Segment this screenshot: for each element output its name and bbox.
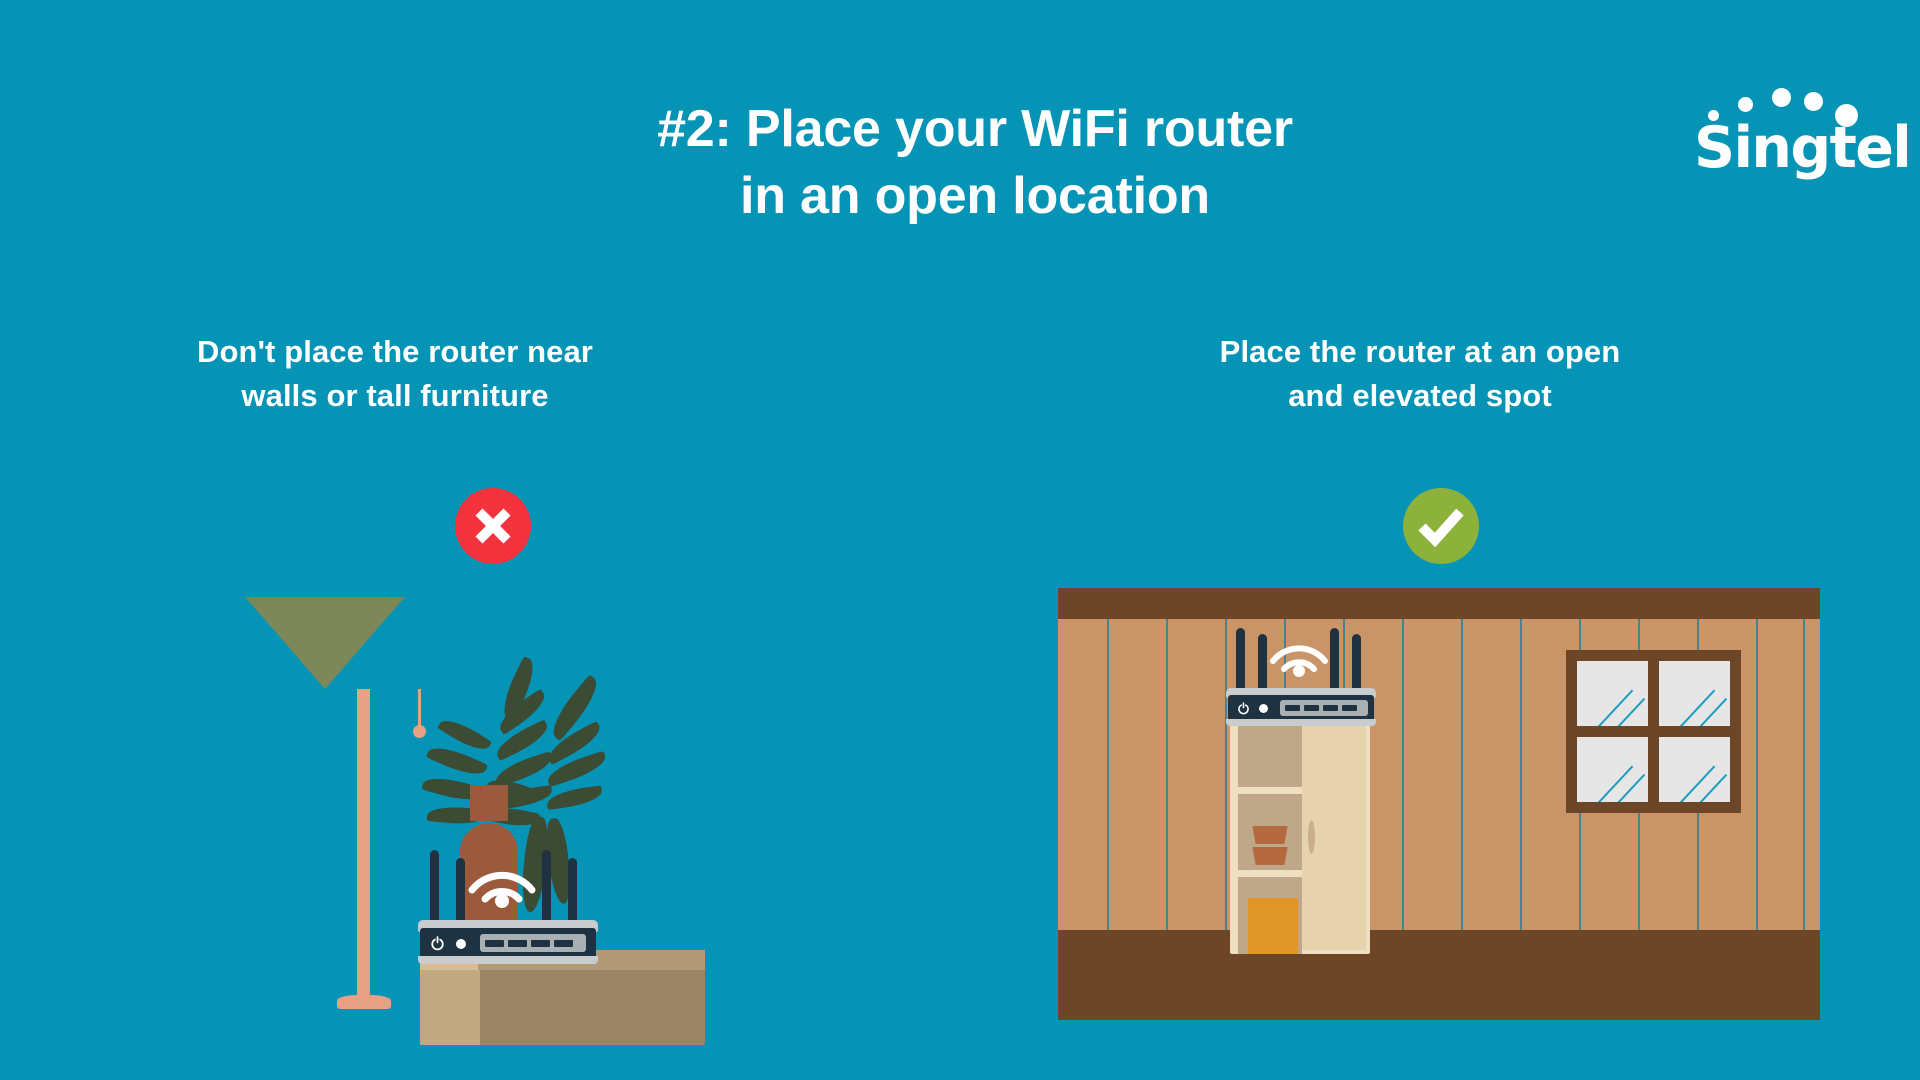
router-antenna-4 — [1352, 634, 1361, 694]
window-pane — [1577, 737, 1648, 802]
cabinet-door-handle[interactable] — [1308, 820, 1315, 854]
wifi-router-good — [1226, 628, 1376, 723]
slide-canvas: #2: Place your WiFi router in an open lo… — [0, 0, 1920, 1080]
lan-port — [1304, 705, 1319, 711]
page-title-line-2: in an open location — [30, 163, 1920, 230]
lan-port — [1323, 705, 1338, 711]
cabinet-orange-box — [1248, 898, 1298, 954]
bad-placement-illustration — [280, 585, 700, 1045]
cross-badge — [455, 488, 531, 564]
check-badge — [1403, 488, 1479, 564]
wifi-icon — [466, 854, 538, 910]
bad-subtitle-line-2: walls or tall furniture — [35, 374, 755, 418]
singtel-logo[interactable]: Singtel — [1694, 82, 1870, 190]
wifi-icon — [1268, 630, 1330, 678]
lan-port — [508, 940, 527, 947]
good-subtitle-line-1: Place the router at an open — [1060, 330, 1780, 374]
router-antenna-3 — [1330, 628, 1339, 694]
power-icon — [430, 936, 445, 951]
good-placement-illustration — [1058, 588, 1820, 1020]
cabinet-basket-1 — [1250, 826, 1290, 844]
router-antenna-1 — [430, 850, 439, 928]
plant-vase-neck — [470, 785, 508, 821]
lan-port — [485, 940, 504, 947]
router-lan-ports — [480, 934, 586, 952]
lan-port — [554, 940, 573, 947]
column-bad: Don't place the router near walls or tal… — [35, 330, 755, 418]
column-good: Place the router at an open and elevated… — [1060, 330, 1780, 418]
router-base — [1226, 719, 1376, 726]
bad-subtitle: Don't place the router near walls or tal… — [35, 330, 755, 418]
router-body — [1228, 695, 1374, 721]
page-title-line-1: #2: Place your WiFi router — [30, 96, 1920, 163]
router-antenna-4 — [568, 858, 577, 928]
router-status-led — [456, 939, 466, 949]
power-icon — [1237, 702, 1250, 715]
side-table-side-panel — [420, 970, 480, 1045]
window-pane — [1577, 661, 1648, 726]
lan-port — [531, 940, 550, 947]
router-body — [420, 928, 596, 958]
window — [1566, 650, 1741, 813]
page-title: #2: Place your WiFi router in an open lo… — [0, 96, 1920, 229]
lamp-pole — [357, 689, 370, 1005]
good-subtitle: Place the router at an open and elevated… — [1060, 330, 1780, 418]
router-antenna-2 — [456, 858, 465, 928]
lamp-shade — [245, 597, 405, 689]
window-pane — [1659, 737, 1730, 802]
lamp-foot — [337, 995, 391, 1009]
router-lan-ports — [1280, 700, 1368, 716]
router-antenna-1 — [1236, 628, 1245, 694]
lan-port — [1285, 705, 1300, 711]
wall-bottom-trim — [1058, 930, 1820, 1020]
bad-subtitle-line-1: Don't place the router near — [35, 330, 755, 374]
router-status-led — [1259, 704, 1268, 713]
check-icon — [1403, 488, 1479, 564]
wifi-router-bad — [418, 850, 598, 960]
router-antenna-3 — [542, 850, 551, 928]
cabinet-shelf-top — [1238, 724, 1302, 787]
side-table — [420, 950, 705, 1045]
good-subtitle-line-2: and elevated spot — [1060, 374, 1780, 418]
window-pane — [1659, 661, 1730, 726]
cabinet — [1230, 716, 1370, 954]
router-base — [418, 956, 598, 964]
router-antenna-2 — [1258, 634, 1267, 694]
singtel-wordmark: Singtel — [1694, 120, 1870, 177]
lan-port — [1342, 705, 1357, 711]
wall-top-trim — [1058, 588, 1820, 619]
cross-icon — [455, 488, 531, 564]
cabinet-basket-2 — [1250, 847, 1290, 865]
